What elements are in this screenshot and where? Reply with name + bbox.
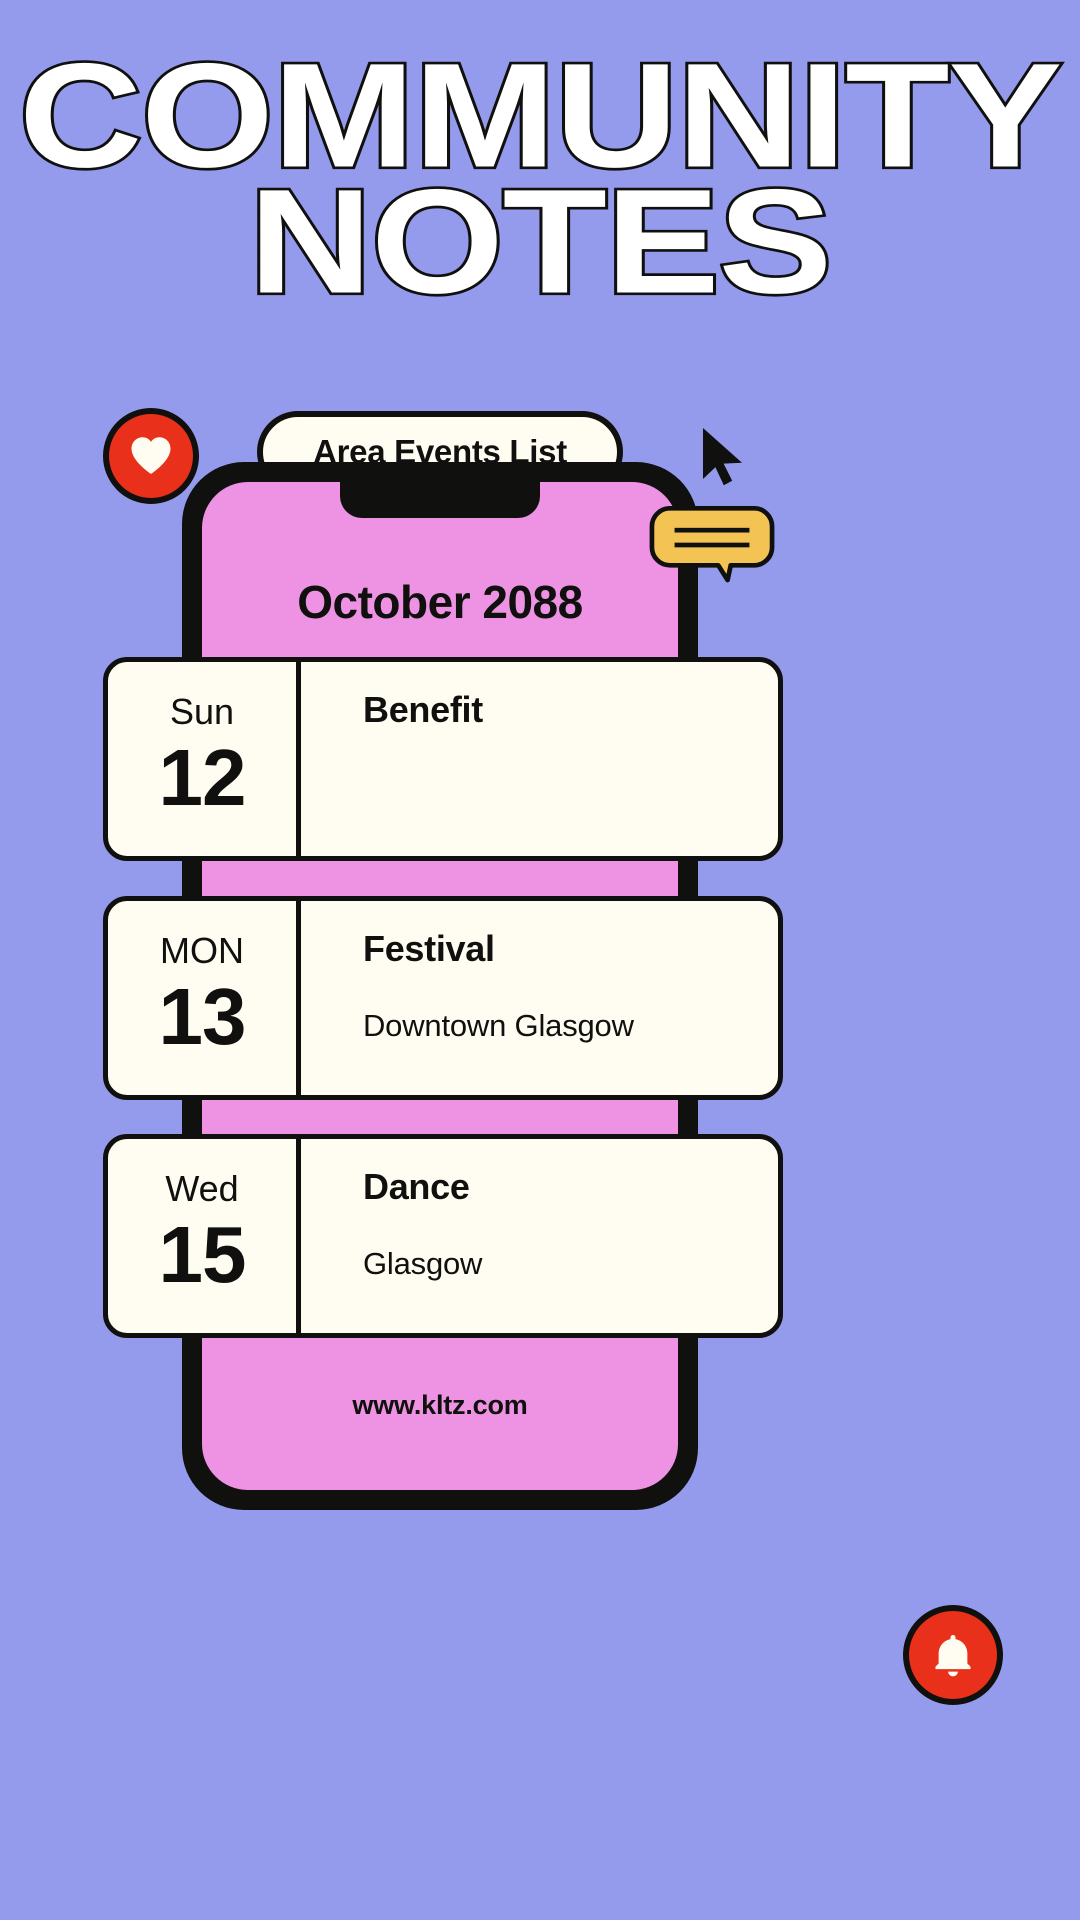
- event-day-number: 15: [159, 1213, 246, 1297]
- event-date-cell: Wed 15: [108, 1139, 301, 1333]
- event-weekday: MON: [160, 933, 244, 969]
- event-weekday: Sun: [170, 694, 234, 730]
- heart-icon: [127, 432, 175, 480]
- event-day-number: 13: [159, 975, 246, 1059]
- event-detail-cell: Dance Glasgow: [301, 1139, 778, 1333]
- event-weekday: Wed: [165, 1171, 238, 1207]
- table-row[interactable]: MON 13 Festival Downtown Glasgow: [103, 896, 783, 1100]
- event-location: Downtown Glasgow: [363, 1009, 778, 1043]
- event-date-cell: Sun 12: [108, 662, 301, 856]
- cursor-arrow-icon: [699, 426, 755, 488]
- phone-notch: [340, 482, 540, 518]
- notifications-button[interactable]: [903, 1605, 1003, 1705]
- favorite-button[interactable]: [103, 408, 199, 504]
- event-date-cell: MON 13: [108, 901, 301, 1095]
- event-detail-cell: Benefit: [301, 662, 778, 856]
- table-row[interactable]: Sun 12 Benefit: [103, 657, 783, 861]
- bell-icon: [928, 1630, 978, 1680]
- event-day-number: 12: [159, 736, 246, 820]
- page-title-line-1: COMMUNITY: [0, 52, 1080, 180]
- table-row[interactable]: Wed 15 Dance Glasgow: [103, 1134, 783, 1338]
- event-title: Benefit: [363, 690, 778, 730]
- page-title: COMMUNITY NOTES: [0, 52, 1080, 299]
- page-title-line-2: NOTES: [0, 178, 1080, 306]
- event-title: Dance: [363, 1167, 778, 1207]
- event-title: Festival: [363, 929, 778, 969]
- speech-bubble-icon: [632, 506, 792, 584]
- event-location: Glasgow: [363, 1247, 778, 1281]
- month-heading: October 2088: [202, 575, 678, 629]
- event-detail-cell: Festival Downtown Glasgow: [301, 901, 778, 1095]
- website-url[interactable]: www.kltz.com: [202, 1390, 678, 1421]
